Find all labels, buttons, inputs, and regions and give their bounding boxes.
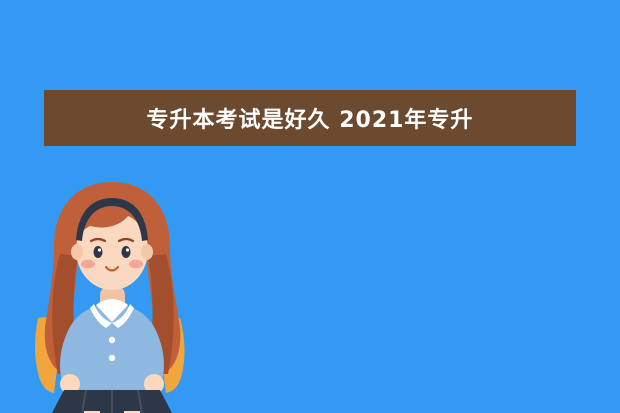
girl-student-illustration	[20, 168, 205, 413]
right-eye	[122, 246, 131, 258]
shirt-button	[109, 355, 115, 361]
left-cheek	[81, 260, 95, 269]
page-title: 专升本考试是好久 2021年专升	[147, 102, 474, 134]
right-cheek	[129, 260, 143, 269]
shirt-button	[109, 337, 115, 343]
left-eye	[94, 246, 103, 258]
left-ear	[71, 244, 83, 260]
title-banner: 专升本考试是好久 2021年专升	[44, 90, 576, 146]
right-ear	[141, 244, 153, 260]
image-canvas: 专升本考试是好久 2021年专升	[0, 0, 620, 413]
